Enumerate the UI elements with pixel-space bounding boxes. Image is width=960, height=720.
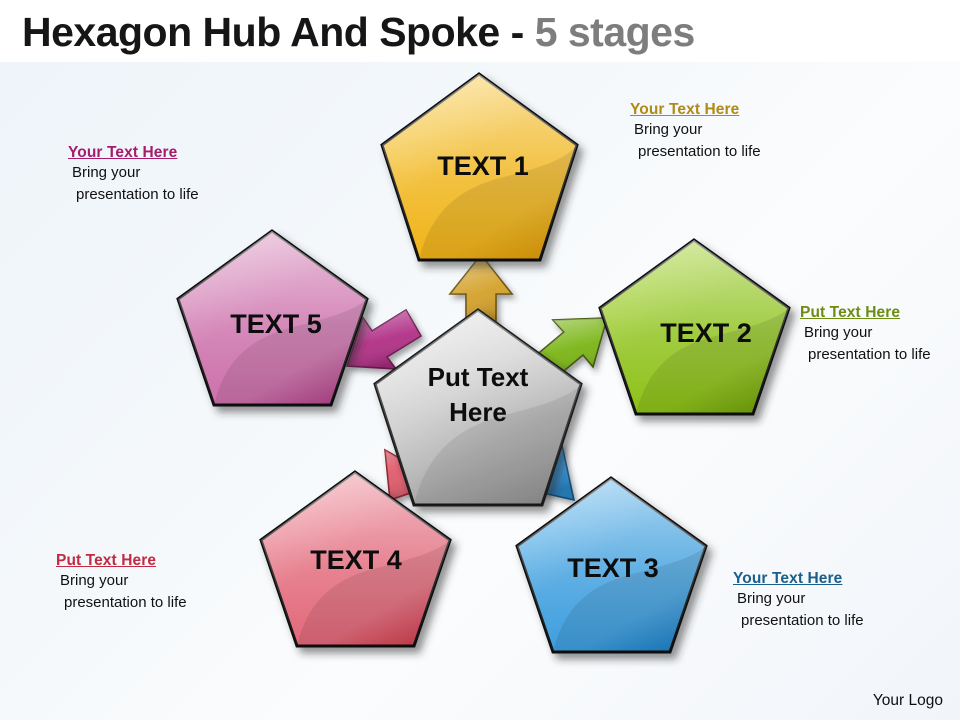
caption-stage3-line2: presentation to life <box>741 610 864 632</box>
caption-stage1-line2: presentation to life <box>638 141 761 163</box>
caption-stage4-heading[interactable]: Put Text Here <box>56 552 187 570</box>
pentagon-stage5[interactable] <box>178 231 367 405</box>
caption-stage1: Your Text Here Bring your presentation t… <box>630 101 761 163</box>
pentagon-stage3[interactable] <box>517 478 706 652</box>
caption-stage4: Put Text Here Bring your presentation to… <box>56 552 187 614</box>
caption-stage5-line2: presentation to life <box>76 184 199 206</box>
caption-stage4-line1: Bring your <box>60 570 187 592</box>
caption-stage3-line1: Bring your <box>737 588 864 610</box>
caption-stage5: Your Text Here Bring your presentation t… <box>68 144 199 206</box>
caption-stage5-heading[interactable]: Your Text Here <box>68 144 199 162</box>
caption-stage2-heading[interactable]: Put Text Here <box>800 304 931 322</box>
caption-stage3: Your Text Here Bring your presentation t… <box>733 570 864 632</box>
slide-canvas: Hexagon Hub And Spoke - 5 stages <box>0 0 960 720</box>
caption-stage2: Put Text Here Bring your presentation to… <box>800 304 931 366</box>
caption-stage2-line2: presentation to life <box>808 344 931 366</box>
caption-stage4-line2: presentation to life <box>64 592 187 614</box>
pentagon-stage1[interactable] <box>382 74 577 260</box>
caption-stage2-line1: Bring your <box>804 322 931 344</box>
caption-stage1-line1: Bring your <box>634 119 761 141</box>
caption-stage1-heading[interactable]: Your Text Here <box>630 101 761 119</box>
caption-stage5-line1: Bring your <box>72 162 199 184</box>
caption-stage3-heading[interactable]: Your Text Here <box>733 570 864 588</box>
pentagon-stage2[interactable] <box>600 240 789 414</box>
logo-placeholder: Your Logo <box>873 692 943 710</box>
